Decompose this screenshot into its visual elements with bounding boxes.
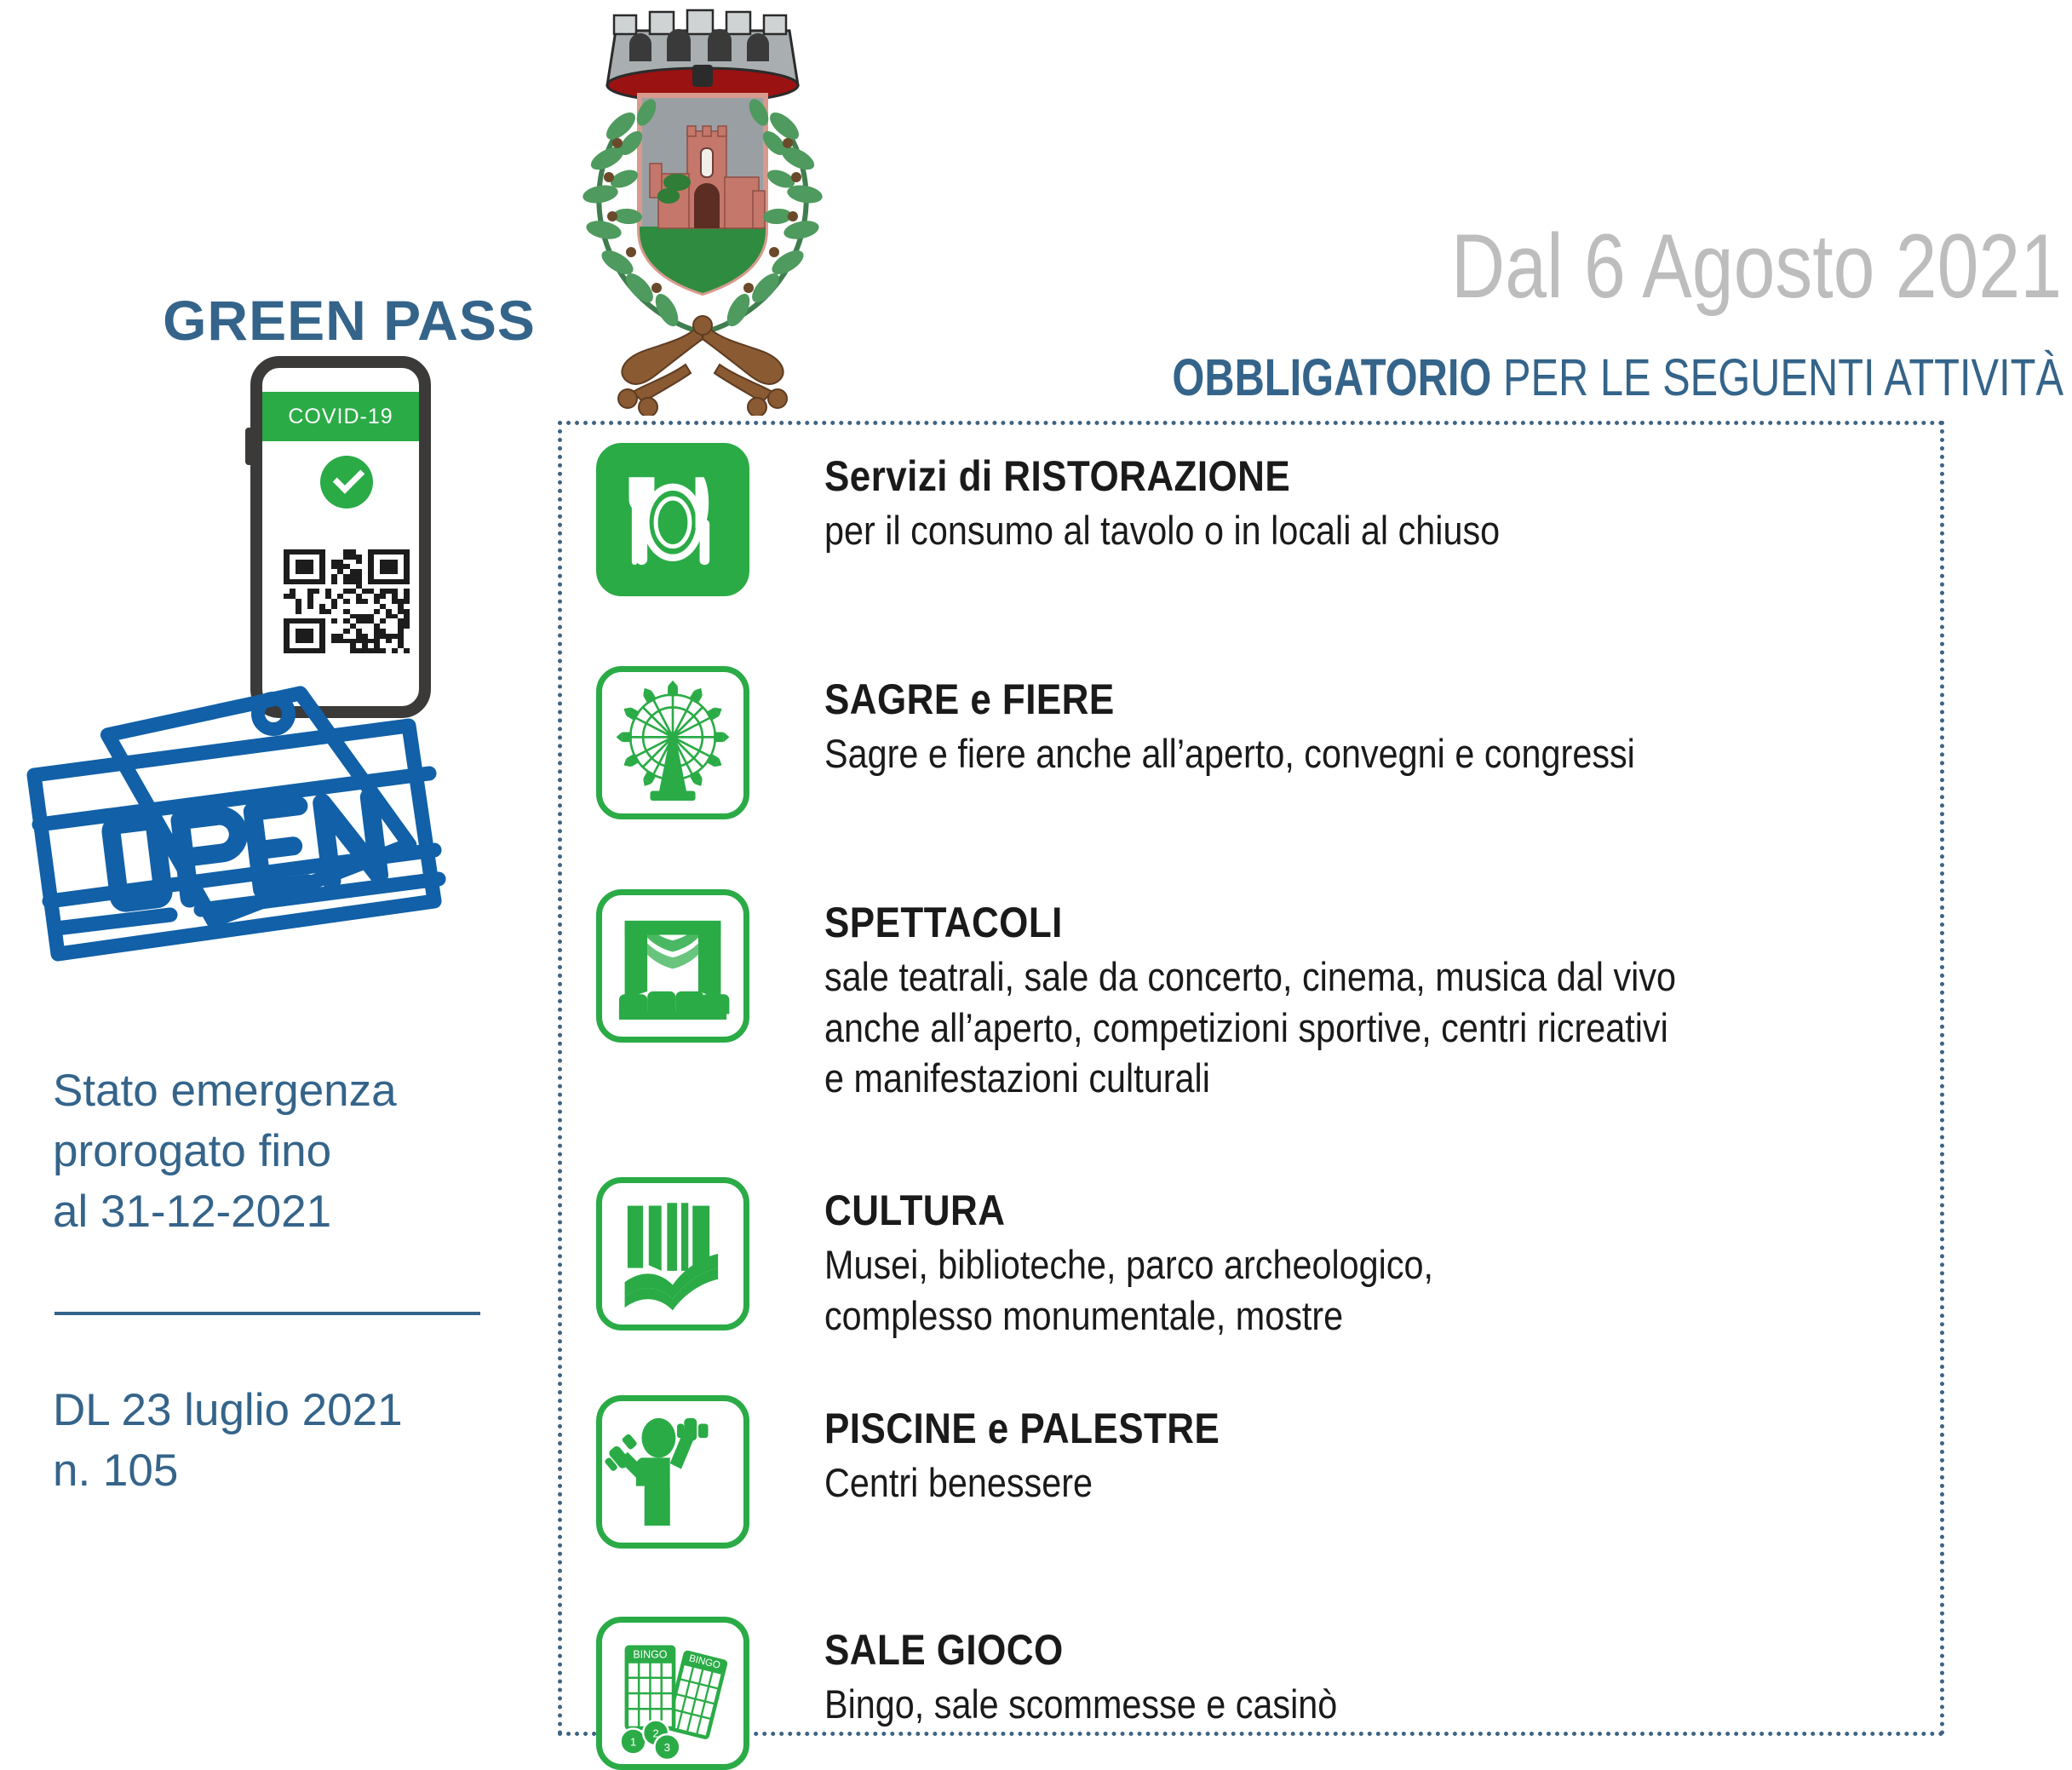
shield-icon [640, 95, 766, 293]
decree-line-1: DL 23 luglio 2021 [53, 1380, 496, 1440]
ribbon-icon [618, 316, 787, 416]
gym-person-icon [596, 1395, 749, 1549]
svg-text:BINGO: BINGO [633, 1649, 667, 1661]
restaurant-icon [596, 443, 749, 596]
activity-description-line: per il consumo al tavolo o in locali al … [824, 505, 1500, 556]
activity-text: SALE GIOCOBingo, sale scommesse e casinò [824, 1617, 1407, 1730]
activity-text: SAGRE e FIERESagre e fiere anche all’ape… [824, 666, 1746, 779]
activity-description: Bingo, sale scommesse e casinò [824, 1679, 1337, 1730]
svg-text:2: 2 [652, 1727, 658, 1739]
phone-side-button [245, 428, 253, 465]
activity-title: SAGRE e FIERE [824, 675, 1635, 725]
activity-description-line: sale teatrali, sale da concerto, cinema,… [824, 951, 1676, 1003]
municipal-coat-of-arms [558, 7, 847, 416]
activity-description: per il consumo al tavolo o in locali al … [824, 505, 1500, 556]
activity-description: Centri benessere [824, 1457, 1220, 1509]
activity-description: Sagre e fiere anche all’aperto, convegni… [824, 728, 1635, 779]
decree-reference: DL 23 luglio 2021 n. 105 [53, 1380, 496, 1501]
poster-canvas: GREEN PASS COVID-19 [0, 0, 2072, 1767]
activity-title: CULTURA [824, 1186, 1433, 1236]
subtitle-bold: OBBLIGATORIO [1172, 348, 1491, 406]
divider [55, 1312, 480, 1315]
activity-text: PISCINE e PALESTRECentri benessere [824, 1395, 1274, 1509]
open-sign-illustration [9, 673, 485, 997]
activity-row: BINGO BINGO 123 SALE GIOCOBingo, sale sc… [596, 1617, 1407, 1770]
theater-stage-icon [596, 889, 749, 1043]
decree-line-2: n. 105 [53, 1440, 496, 1501]
activity-row: SPETTACOLIsale teatrali, sale da concert… [596, 889, 1792, 1104]
activity-title: SALE GIOCO [824, 1625, 1337, 1675]
activity-title: Servizi di RISTORAZIONE [824, 451, 1500, 502]
emergency-state-note: Stato emergenza prorogato fino al 31-12-… [53, 1060, 496, 1242]
qr-code-icon [284, 549, 410, 653]
covid-banner: COVID-19 [262, 392, 419, 441]
activity-description-line: e manifestazioni culturali [824, 1053, 1676, 1104]
activity-text: Servizi di RISTORAZIONEper il consumo al… [824, 443, 1592, 556]
activity-title: PISCINE e PALESTRE [824, 1404, 1220, 1454]
activity-description: Musei, biblioteche, parco archeologico,c… [824, 1239, 1433, 1341]
emergency-line-2: prorogato fino [53, 1121, 496, 1181]
activity-description-line: anche all’aperto, competizioni sportive,… [824, 1003, 1676, 1054]
books-icon [596, 1177, 749, 1330]
activity-title: SPETTACOLI [824, 898, 1676, 948]
activity-description-line: Bingo, sale scommesse e casinò [824, 1679, 1337, 1730]
activity-text: CULTURAMusei, biblioteche, parco archeol… [824, 1177, 1517, 1341]
ferris-wheel-icon [596, 666, 749, 819]
activity-description: sale teatrali, sale da concerto, cinema,… [824, 951, 1676, 1104]
page-title: GREEN PASS [149, 288, 549, 353]
check-circle-icon [320, 456, 373, 509]
activity-row: PISCINE e PALESTRECentri benessere [596, 1395, 1274, 1549]
date-heading: Dal 6 Agosto 2021 [1224, 213, 2062, 319]
subtitle-rest: PER LE SEGUENTI ATTIVITÀ [1491, 348, 2063, 406]
mural-crown-icon [607, 10, 798, 102]
activity-description-line: Musei, biblioteche, parco archeologico, [824, 1239, 1433, 1290]
activity-description-line: complesso monumentale, mostre [824, 1290, 1433, 1342]
activity-description-line: Sagre e fiere anche all’aperto, convegni… [824, 728, 1635, 779]
subtitle-heading: OBBLIGATORIO PER LE SEGUENTI ATTIVITÀ [1042, 348, 2063, 407]
activity-description-line: Centri benessere [824, 1457, 1220, 1509]
activity-row: SAGRE e FIERESagre e fiere anche all’ape… [596, 666, 1746, 819]
activity-row: CULTURAMusei, biblioteche, parco archeol… [596, 1177, 1517, 1341]
svg-text:3: 3 [664, 1741, 670, 1754]
emergency-line-3: al 31-12-2021 [53, 1181, 496, 1242]
bingo-card-icon: BINGO BINGO 123 [596, 1617, 749, 1770]
activity-text: SPETTACOLIsale teatrali, sale da concert… [824, 889, 1792, 1104]
svg-text:1: 1 [630, 1735, 636, 1748]
emergency-line-1: Stato emergenza [53, 1060, 496, 1121]
activity-row: Servizi di RISTORAZIONEper il consumo al… [596, 443, 1592, 596]
